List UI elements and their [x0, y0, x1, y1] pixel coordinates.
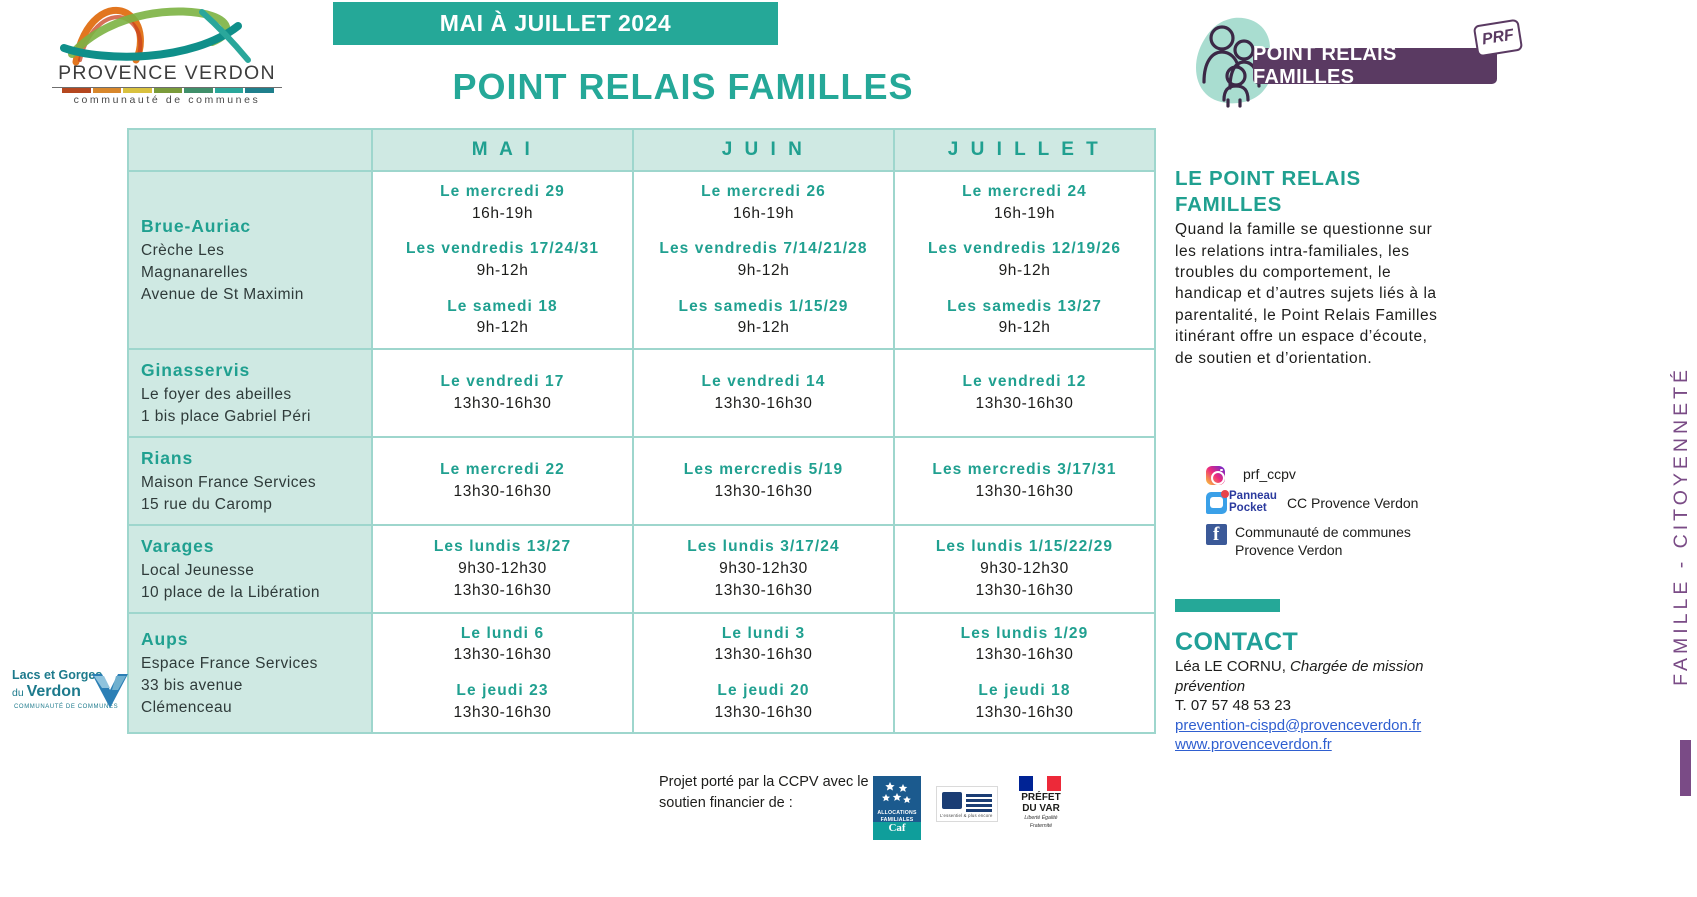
slot-hours: 16h-19h: [377, 203, 628, 225]
slot-group: Les lundis 13/279h30-12h3013h30-16h30: [377, 536, 628, 601]
slot-hours: 13h30-16h30: [899, 644, 1150, 666]
slots-cell-juillet: Le mercredi 2416h-19hLes vendredis 12/19…: [894, 171, 1155, 349]
slot-hours: 13h30-16h30: [899, 702, 1150, 724]
facebook-page-label: Communauté de communes Provence Verdon: [1235, 524, 1411, 559]
slot-day: Les vendredis 7/14/21/28: [638, 238, 889, 260]
slot-group: Le mercredi 2616h-19h: [638, 181, 889, 224]
town-name: Ginasservis: [141, 358, 371, 383]
slot-day: Le mercredi 29: [377, 181, 628, 203]
contact-person: Léa LE CORNU, Chargée de mission prévent…: [1175, 657, 1475, 696]
slot-hours: 13h30-16h30: [377, 393, 628, 415]
place-cell: Brue-AuriacCrèche LesMagnanarellesAvenue…: [128, 171, 372, 349]
contact-website-link[interactable]: www.provenceverdon.fr: [1175, 735, 1475, 755]
slot-hours: 9h30-12h30: [377, 558, 628, 580]
prf-badge: PRF: [1473, 19, 1523, 58]
slot-group: Les lundis 1/2913h30-16h30: [899, 623, 1150, 666]
date-range-banner: MAI À JUILLET 2024: [333, 2, 778, 45]
slot-day: Le vendredi 14: [638, 371, 889, 393]
slot-hours: 13h30-16h30: [377, 481, 628, 503]
slot-group: Le lundi 613h30-16h30: [377, 623, 628, 666]
address-line: Clémenceau: [141, 697, 371, 719]
address-line: 10 place de la Libération: [141, 582, 371, 604]
panneau-pocket-label: CC Provence Verdon: [1287, 495, 1419, 512]
slot-hours: 9h-12h: [899, 260, 1150, 282]
place-cell: AupsEspace France Services33 bis avenueC…: [128, 613, 372, 734]
slot-group: Les mercredis 5/1913h30-16h30: [638, 459, 889, 502]
place-cell: VaragesLocal Jeunesse10 place de la Libé…: [128, 525, 372, 613]
slots-cell-juillet: Les lundis 1/15/22/299h30-12h3013h30-16h…: [894, 525, 1155, 613]
slot-day: Le jeudi 20: [638, 680, 889, 702]
address-line: Le foyer des abeilles: [141, 384, 371, 406]
table-row: VaragesLocal Jeunesse10 place de la Libé…: [128, 525, 1155, 613]
address-line: 15 rue du Caromp: [141, 494, 371, 516]
slot-hours: 9h-12h: [377, 317, 628, 339]
panneau-pocket-line1: Panneau: [1229, 491, 1277, 503]
facebook-icon: [1206, 524, 1227, 545]
lgv-line2-main: Verdon: [27, 683, 81, 700]
prefet-devise: Liberté Égalité Fraternité: [1013, 815, 1069, 830]
french-flag-icon: [1019, 776, 1061, 791]
header-blank: [128, 129, 372, 171]
instagram-icon: [1206, 466, 1225, 485]
sidebar-heading: LE POINT RELAIS FAMILLES: [1175, 166, 1443, 217]
slot-group: Le mercredi 2213h30-16h30: [377, 459, 628, 502]
slot-hours: 16h-19h: [638, 203, 889, 225]
town-name: Varages: [141, 534, 371, 559]
slot-hours: 9h-12h: [638, 260, 889, 282]
slot-day: Le samedi 18: [377, 296, 628, 318]
social-row-panneaupocket[interactable]: Panneau Pocket CC Provence Verdon: [1206, 491, 1506, 514]
slot-group: Le vendredi 1213h30-16h30: [899, 371, 1150, 414]
caf-stars-icon: [880, 781, 914, 809]
sidebar-intro-text: Quand la famille se questionne sur les r…: [1175, 219, 1443, 369]
slot-day: Le vendredi 17: [377, 371, 628, 393]
contact-phone: T. 07 57 48 53 23: [1175, 696, 1475, 716]
info-sidebar: LE POINT RELAIS FAMILLES Quand la famill…: [1175, 166, 1443, 369]
slots-cell-mai: Les lundis 13/279h30-12h3013h30-16h30: [372, 525, 633, 613]
slot-hours: 9h30-12h30: [638, 558, 889, 580]
vertical-theme-text: FAMILLE - CITOYENNETÉ: [1670, 366, 1693, 686]
slot-hours: 13h30-16h30: [899, 481, 1150, 503]
slot-hours: 16h-19h: [899, 203, 1150, 225]
slots-cell-juillet: Le vendredi 1213h30-16h30: [894, 349, 1155, 437]
slot-day: Les vendredis 17/24/31: [377, 238, 628, 260]
address-line: Espace France Services: [141, 653, 371, 675]
address-line: Local Jeunesse: [141, 560, 371, 582]
slot-hours: 9h-12h: [899, 317, 1150, 339]
slots-cell-mai: Le vendredi 1713h30-16h30: [372, 349, 633, 437]
slots-cell-juin: Le vendredi 1413h30-16h30: [633, 349, 894, 437]
slot-group: Le jeudi 2013h30-16h30: [638, 680, 889, 723]
slots-cell-mai: Le mercredi 2213h30-16h30: [372, 437, 633, 525]
slot-day: Les lundis 3/17/24: [638, 536, 889, 558]
provence-verdon-color-bars: [62, 88, 274, 93]
town-name: Rians: [141, 446, 371, 471]
slots-cell-mai: Le mercredi 2916h-19hLes vendredis 17/24…: [372, 171, 633, 349]
slot-group: Le mercredi 2416h-19h: [899, 181, 1150, 224]
slot-hours: 13h30-16h30: [377, 644, 628, 666]
table-row: GinasservisLe foyer des abeilles1 bis pl…: [128, 349, 1155, 437]
schedule-table: M A I J U I N J U I L L E T Brue-AuriacC…: [127, 128, 1156, 734]
verdon-v-icon: [92, 674, 128, 708]
caf-brand: Caf: [873, 822, 921, 840]
slot-group: Le jeudi 1813h30-16h30: [899, 680, 1150, 723]
slots-cell-juillet: Les mercredis 3/17/3113h30-16h30: [894, 437, 1155, 525]
slots-cell-juin: Les mercredis 5/1913h30-16h30: [633, 437, 894, 525]
slot-group: Les vendredis 7/14/21/289h-12h: [638, 238, 889, 281]
address-line: Crèche Les: [141, 240, 371, 262]
header-juillet: J U I L L E T: [894, 129, 1155, 171]
table-row: AupsEspace France Services33 bis avenueC…: [128, 613, 1155, 734]
place-cell: GinasservisLe foyer des abeilles1 bis pl…: [128, 349, 372, 437]
provence-verdon-name: PROVENCE VERDON: [52, 62, 282, 88]
slot-hours: 9h-12h: [377, 260, 628, 282]
slot-day: Le lundi 3: [638, 623, 889, 645]
table-row: Brue-AuriacCrèche LesMagnanarellesAvenue…: [128, 171, 1155, 349]
slot-group: Les samedis 13/279h-12h: [899, 296, 1150, 339]
slot-hours: 13h30-16h30: [377, 702, 628, 724]
address-line: Maison France Services: [141, 472, 371, 494]
slot-group: Les vendredis 17/24/319h-12h: [377, 238, 628, 281]
slot-group: Le jeudi 2313h30-16h30: [377, 680, 628, 723]
contact-block: CONTACT Léa LE CORNU, Chargée de mission…: [1175, 628, 1475, 755]
table-header-row: M A I J U I N J U I L L E T: [128, 129, 1155, 171]
social-links: prf_ccpv Panneau Pocket CC Provence Verd…: [1206, 466, 1506, 565]
contact-heading: CONTACT: [1175, 628, 1475, 657]
slot-day: Le lundi 6: [377, 623, 628, 645]
place-cell: RiansMaison France Services15 rue du Car…: [128, 437, 372, 525]
header-mai: M A I: [372, 129, 633, 171]
provence-verdon-subtitle: communauté de communes: [52, 94, 282, 106]
slot-day: Le mercredi 24: [899, 181, 1150, 203]
slots-cell-juin: Le mercredi 2616h-19hLes vendredis 7/14/…: [633, 171, 894, 349]
slot-day: Le vendredi 12: [899, 371, 1150, 393]
slots-cell-juin: Le lundi 313h30-16h30Le jeudi 2013h30-16…: [633, 613, 894, 734]
contact-name: Léa LE CORNU,: [1175, 658, 1290, 675]
slot-group: Les vendredis 12/19/269h-12h: [899, 238, 1150, 281]
address-line: 1 bis place Gabriel Péri: [141, 406, 371, 428]
prf-wordmark: POINT RELAIS FAMILLES: [1253, 48, 1497, 84]
provence-verdon-swoosh-icon: [52, 4, 282, 66]
slot-group: Les samedis 1/15/299h-12h: [638, 296, 889, 339]
provence-verdon-logo: PROVENCE VERDON communauté de communes: [52, 4, 282, 104]
town-name: Aups: [141, 627, 371, 652]
slot-day: Le mercredi 22: [377, 459, 628, 481]
social-row-facebook[interactable]: Communauté de communes Provence Verdon: [1206, 524, 1506, 559]
slot-group: Les lundis 1/15/22/299h30-12h3013h30-16h…: [899, 536, 1150, 601]
slot-day: Les lundis 1/29: [899, 623, 1150, 645]
msa-tagline: L’essentiel & plus encore: [940, 813, 993, 818]
slot-hours: 13h30-16h30: [638, 702, 889, 724]
slot-group: Le mercredi 2916h-19h: [377, 181, 628, 224]
panneau-pocket-icon: Panneau Pocket: [1206, 491, 1277, 514]
lgv-line2-pre: du: [12, 687, 27, 699]
point-relais-familles-logo: POINT RELAIS FAMILLES PRF: [1190, 8, 1520, 108]
slot-group: Les mercredis 3/17/3113h30-16h30: [899, 459, 1150, 502]
footer-support-text: Projet porté par la CCPV avec le soutien…: [659, 772, 899, 813]
page-title: POINT RELAIS FAMILLES: [333, 66, 1033, 108]
town-name: Brue-Auriac: [141, 214, 371, 239]
slots-cell-juillet: Les lundis 1/2913h30-16h30Le jeudi 1813h…: [894, 613, 1155, 734]
slot-hours: 13h30-16h30: [638, 644, 889, 666]
slot-group: Le vendredi 1413h30-16h30: [638, 371, 889, 414]
slot-hours: 13h30-16h30: [899, 393, 1150, 415]
instagram-handle: prf_ccpv: [1243, 466, 1296, 483]
slot-hours: 9h-12h: [638, 317, 889, 339]
caf-logo: ALLOCATIONSFAMILIALES Caf: [873, 776, 921, 840]
header-juin: J U I N: [633, 129, 894, 171]
slot-day: Les samedis 13/27: [899, 296, 1150, 318]
address-line: 33 bis avenue: [141, 675, 371, 697]
slots-cell-juin: Les lundis 3/17/249h30-12h3013h30-16h30: [633, 525, 894, 613]
prefet-title: PRÉFET DU VAR: [1013, 793, 1069, 814]
slot-hours: 13h30-16h30: [638, 393, 889, 415]
slot-hours: 13h30-16h30: [377, 580, 628, 602]
panneau-pocket-line2: Pocket: [1229, 503, 1277, 515]
slot-group: Le lundi 313h30-16h30: [638, 623, 889, 666]
contact-email-link[interactable]: prevention-cispd@provenceverdon.fr: [1175, 716, 1475, 736]
slot-group: Le vendredi 1713h30-16h30: [377, 371, 628, 414]
slot-hours: 9h30-12h30: [899, 558, 1150, 580]
msa-logo: L’essentiel & plus encore: [936, 786, 998, 822]
slot-day: Le mercredi 26: [638, 181, 889, 203]
slot-hours: 13h30-16h30: [638, 481, 889, 503]
slot-day: Les lundis 1/15/22/29: [899, 536, 1150, 558]
poster-page: PROVENCE VERDON communauté de communes M…: [0, 0, 1697, 897]
table-row: RiansMaison France Services15 rue du Car…: [128, 437, 1155, 525]
vertical-accent-bar: [1680, 740, 1691, 796]
slot-group: Les lundis 3/17/249h30-12h3013h30-16h30: [638, 536, 889, 601]
slot-day: Les vendredis 12/19/26: [899, 238, 1150, 260]
address-line: Avenue de St Maximin: [141, 284, 371, 306]
lgv-line1: Lacs et Gorges: [12, 668, 102, 682]
caf-line1: ALLOCATIONS: [877, 810, 916, 816]
contact-divider: [1175, 599, 1280, 612]
address-line: Magnanarelles: [141, 262, 371, 284]
lacs-et-gorges-du-verdon-logo: Lacs et Gorges du Verdon COMMUNAUTÉ DE C…: [8, 660, 128, 720]
msa-book-icon: [942, 792, 962, 809]
slot-day: Le jeudi 23: [377, 680, 628, 702]
slot-day: Le jeudi 18: [899, 680, 1150, 702]
slot-hours: 13h30-16h30: [899, 580, 1150, 602]
lgv-line2: du Verdon: [12, 683, 81, 701]
slot-hours: 13h30-16h30: [638, 580, 889, 602]
slot-day: Les lundis 13/27: [377, 536, 628, 558]
social-row-instagram[interactable]: prf_ccpv: [1206, 466, 1506, 485]
slot-group: Le samedi 189h-12h: [377, 296, 628, 339]
slot-day: Les mercredis 3/17/31: [899, 459, 1150, 481]
prefet-du-var-logo: PRÉFET DU VAR Liberté Égalité Fraternité: [1013, 776, 1069, 838]
slots-cell-mai: Le lundi 613h30-16h30Le jeudi 2313h30-16…: [372, 613, 633, 734]
slot-day: Les mercredis 5/19: [638, 459, 889, 481]
slot-day: Les samedis 1/15/29: [638, 296, 889, 318]
